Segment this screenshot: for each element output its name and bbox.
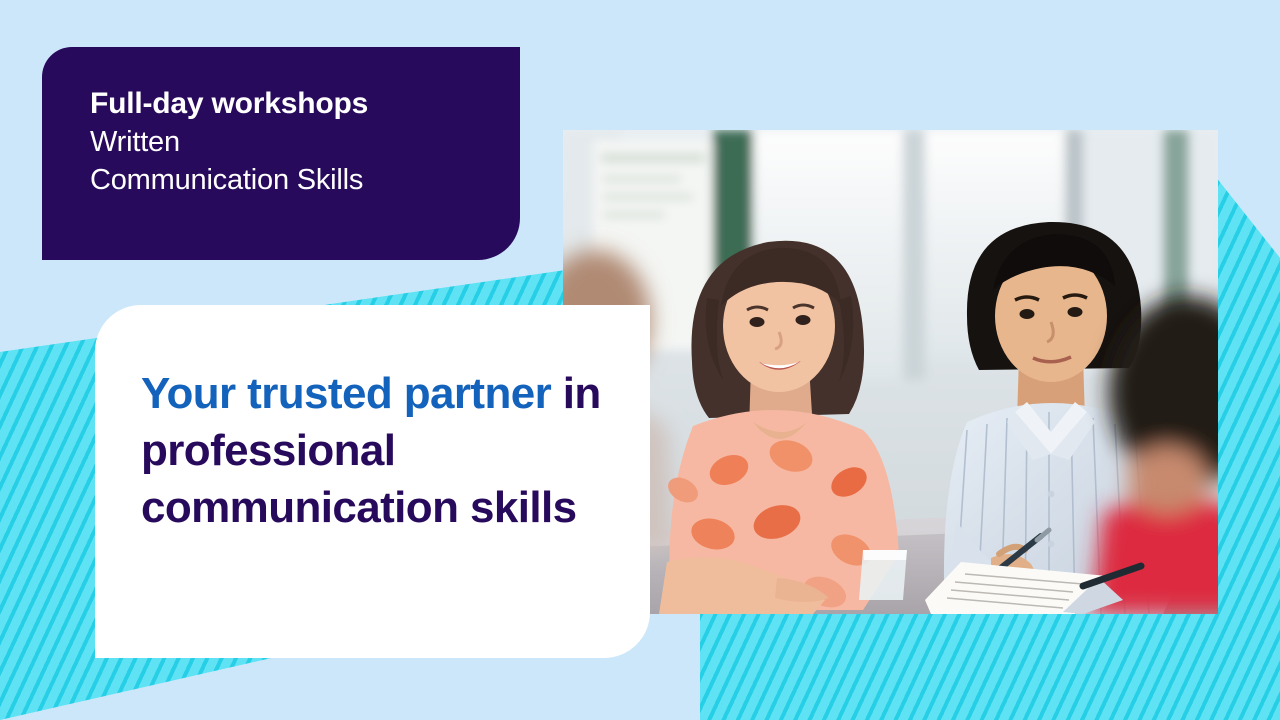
meeting-photo-illustration [563, 130, 1218, 614]
headline-card: Your trusted partner in professional com… [95, 305, 650, 658]
slide-canvas: Full-day workshops Written Communication… [0, 0, 1280, 720]
headline-text: Your trusted partner in professional com… [141, 365, 611, 536]
workshop-eyebrow-card: Full-day workshops Written Communication… [42, 47, 520, 260]
workshop-title: Full-day workshops [90, 85, 520, 123]
workshop-subtitle-line-2: Communication Skills [90, 161, 520, 199]
workshop-subtitle-line-1: Written [90, 123, 520, 161]
headline-accent: Your trusted partner [141, 369, 551, 418]
meeting-photo [563, 130, 1218, 614]
